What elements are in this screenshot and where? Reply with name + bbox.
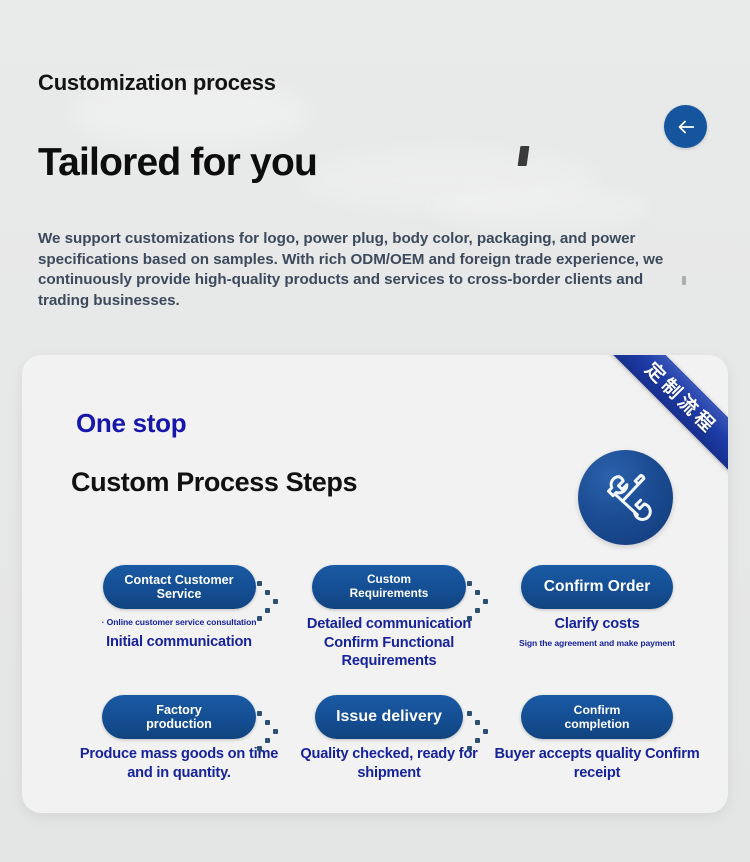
process-step: Confirm completion Buyer accepts quality…	[490, 695, 704, 782]
step-pill-confirm-order[interactable]: Confirm Order	[521, 565, 673, 609]
customization-process-page: Customization process Tailored for you W…	[0, 0, 750, 862]
step-small-caption: Sign the agreement and make payment	[490, 638, 704, 649]
card-kicker: One stop	[76, 408, 186, 439]
corner-ribbon-label: 定制流程	[640, 355, 724, 439]
card-title: Custom Process Steps	[71, 467, 357, 498]
process-row: Contact Customer Service · Online custom…	[22, 565, 728, 677]
tools-badge	[578, 450, 673, 545]
process-step: Confirm Order Clarify costs Sign the agr…	[490, 565, 704, 649]
step-caption: Detailed communication Confirm Functiona…	[282, 615, 496, 671]
step-caption: Clarify costs	[490, 615, 704, 634]
step-caption: Initial communication	[72, 633, 286, 652]
step-pill-issue-delivery[interactable]: Issue delivery	[315, 695, 463, 739]
background-artifact	[518, 146, 530, 166]
page-kicker: Customization process	[38, 70, 368, 97]
process-step: Contact Customer Service · Online custom…	[72, 565, 286, 652]
step-caption: Quality checked, ready for shipment	[282, 745, 496, 782]
background-smudge	[300, 150, 600, 210]
process-steps: Contact Customer Service · Online custom…	[22, 565, 728, 807]
step-caption: Buyer accepts quality Confirm receipt	[490, 745, 704, 782]
step-pill-contact-customer-service[interactable]: Contact Customer Service	[103, 565, 256, 609]
intro-paragraph: We support customizations for logo, powe…	[38, 229, 686, 311]
step-caption: Produce mass goods on time and in quanti…	[72, 745, 286, 782]
step-pill-custom-requirements[interactable]: Custom Requirements	[312, 565, 466, 609]
arrow-left-icon	[675, 116, 697, 138]
process-step: Factory production Produce mass goods on…	[72, 695, 286, 782]
page-title: Tailored for you	[38, 143, 317, 184]
step-pill-confirm-completion[interactable]: Confirm completion	[521, 695, 673, 739]
process-row: Factory production Produce mass goods on…	[22, 695, 728, 807]
step-pill-factory-production[interactable]: Factory production	[102, 695, 256, 739]
process-step: Custom Requirements Detailed communicati…	[282, 565, 496, 671]
back-button[interactable]	[664, 105, 707, 148]
tools-wrench-screwdriver-icon	[598, 467, 654, 528]
step-small-caption: · Online customer service consultation	[72, 617, 286, 628]
background-smudge	[430, 185, 650, 230]
process-step: Issue delivery Quality checked, ready fo…	[282, 695, 496, 782]
